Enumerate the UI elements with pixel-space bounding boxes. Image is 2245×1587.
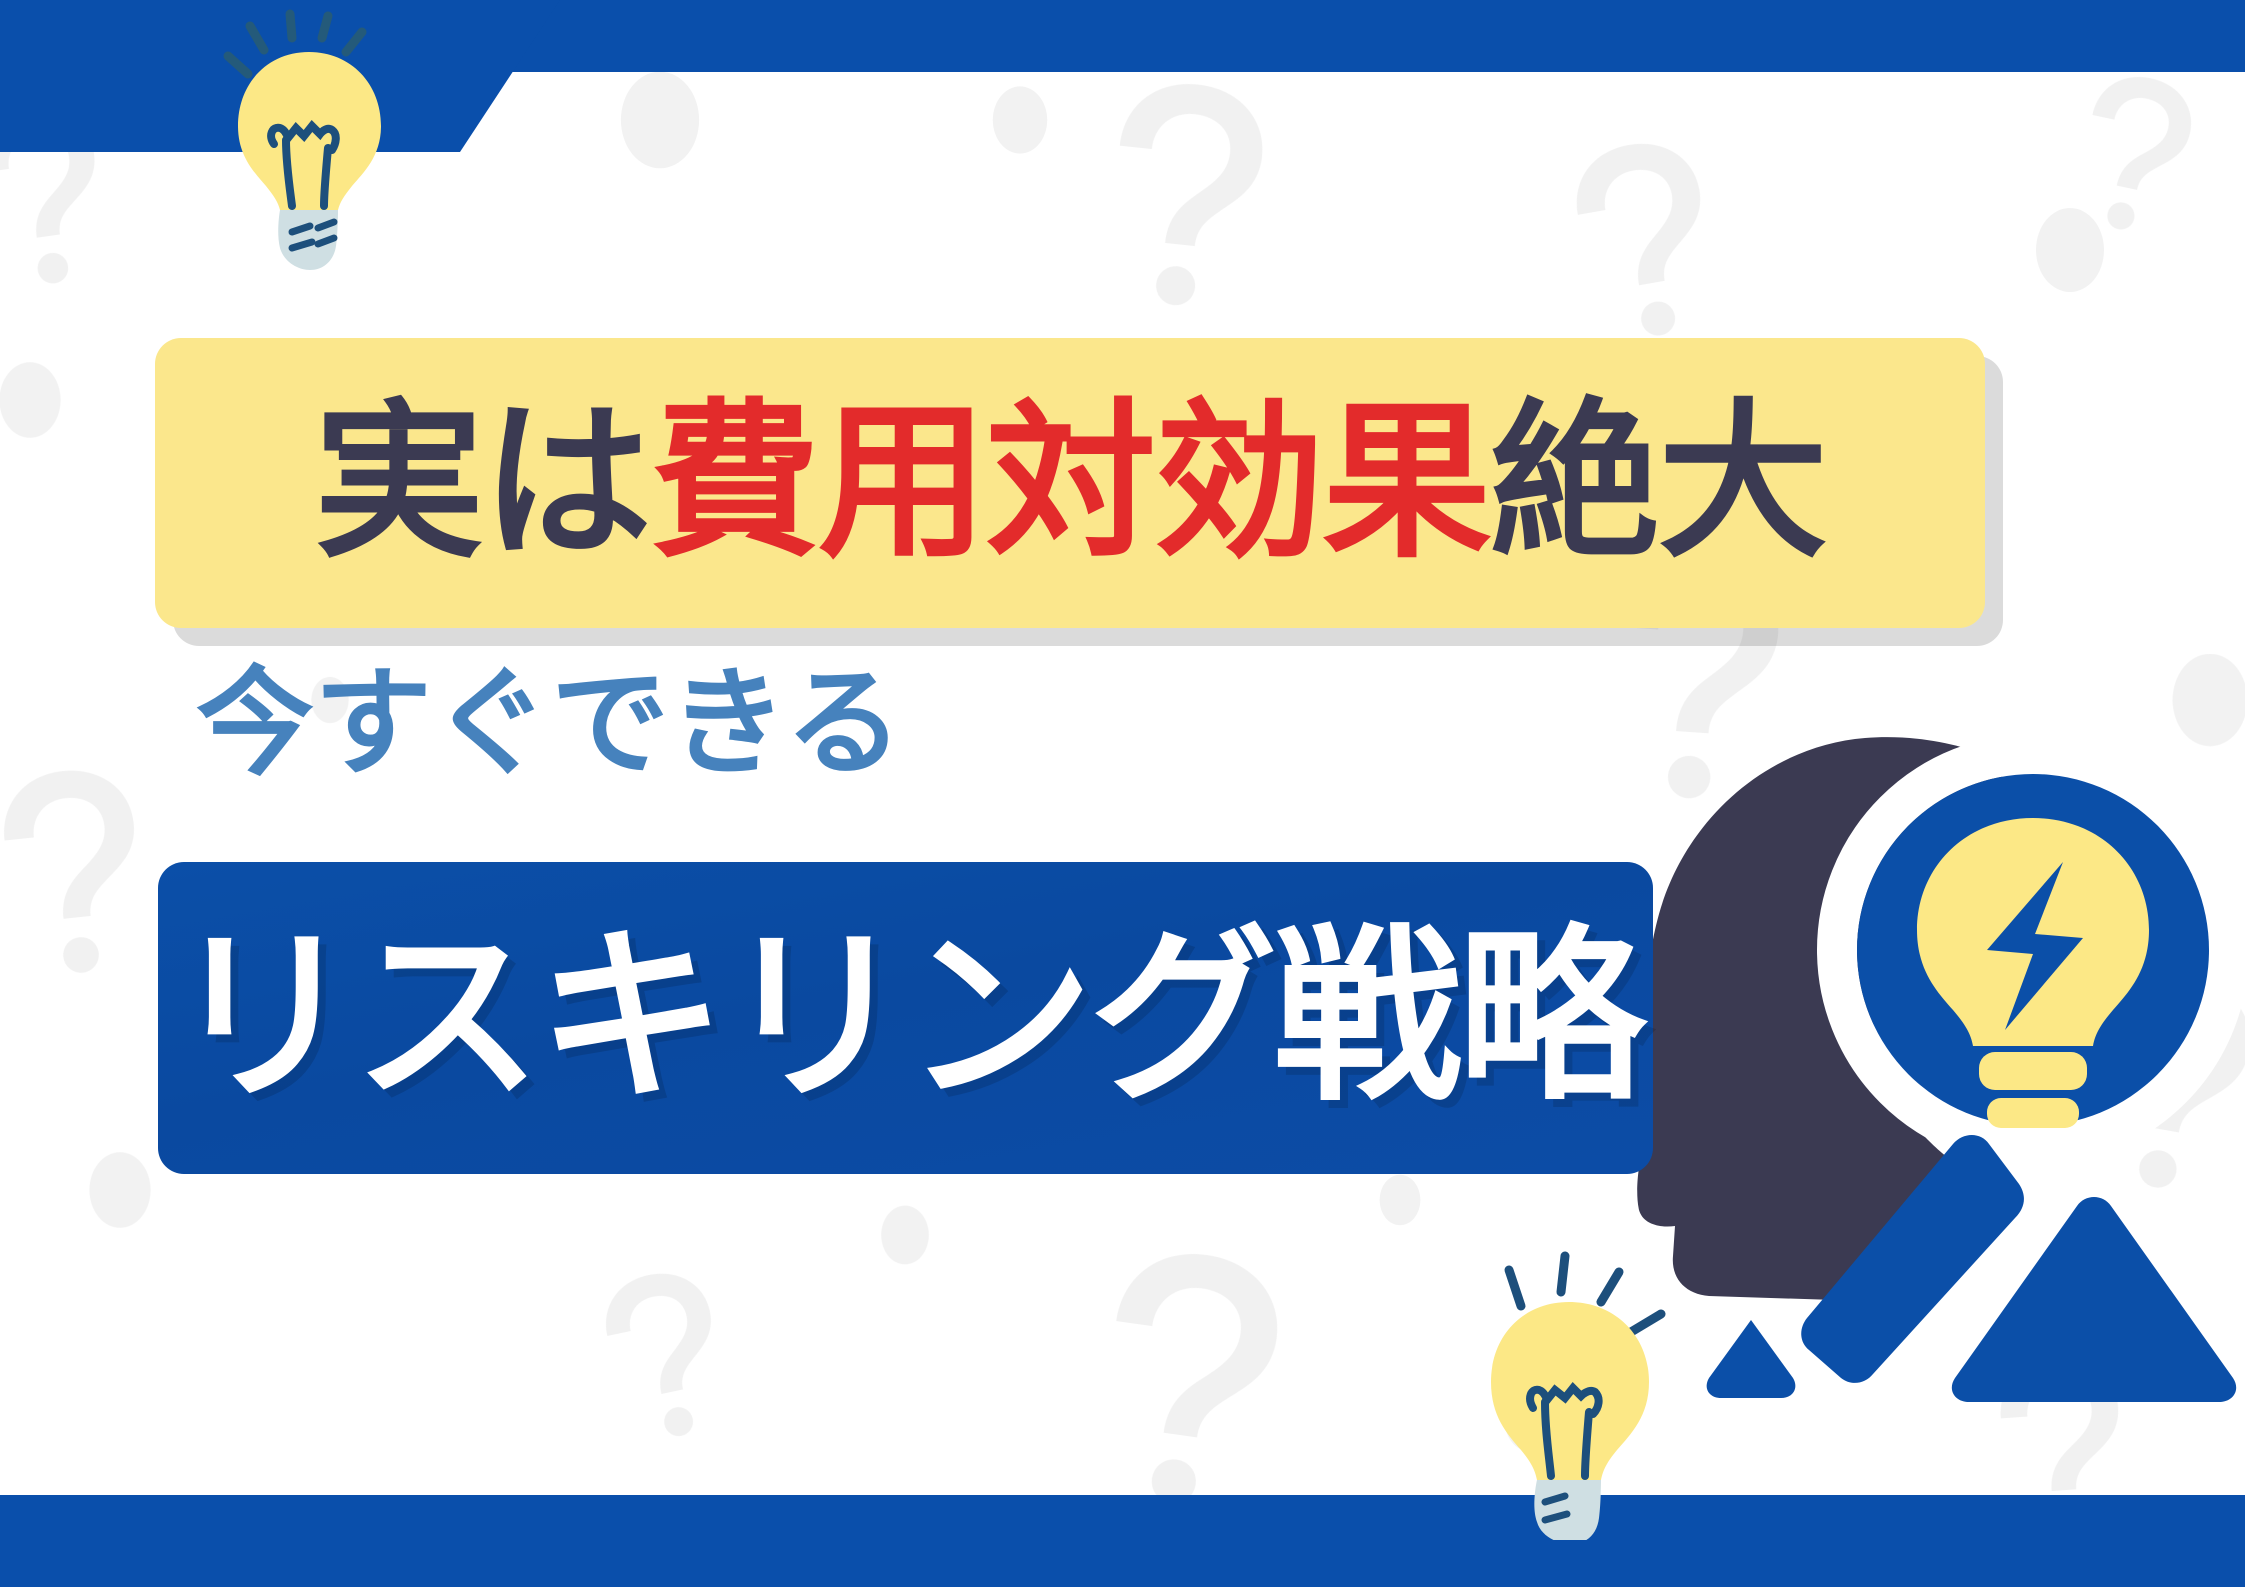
lightbulb-bolt-badge-icon xyxy=(1857,774,2209,1128)
headline-segment-2: 費用対効果 xyxy=(650,384,1490,582)
headline-segment-1: 実は xyxy=(314,384,650,582)
headline-secondary-text: リスキリング戦略 xyxy=(170,924,1642,1112)
lightbulb-icon xyxy=(1453,1240,1683,1540)
headline-text: 実は費用対効果絶大 xyxy=(314,398,1826,568)
banner-canvas: 実は費用対効果絶大 今すぐできる リスキリング戦略 xyxy=(0,0,2245,1587)
headline-plate-yellow: 実は費用対効果絶大 xyxy=(155,338,1985,628)
lightbulb-icon xyxy=(206,4,416,274)
blue-bottom-bar xyxy=(0,1495,2245,1587)
headline-segment-3: 絶大 xyxy=(1490,384,1826,582)
headline-plate-blue: リスキリング戦略 xyxy=(158,862,1653,1174)
subtitle-text: 今すぐできる xyxy=(196,664,903,782)
growth-arrow-icon xyxy=(1685,1120,2245,1480)
